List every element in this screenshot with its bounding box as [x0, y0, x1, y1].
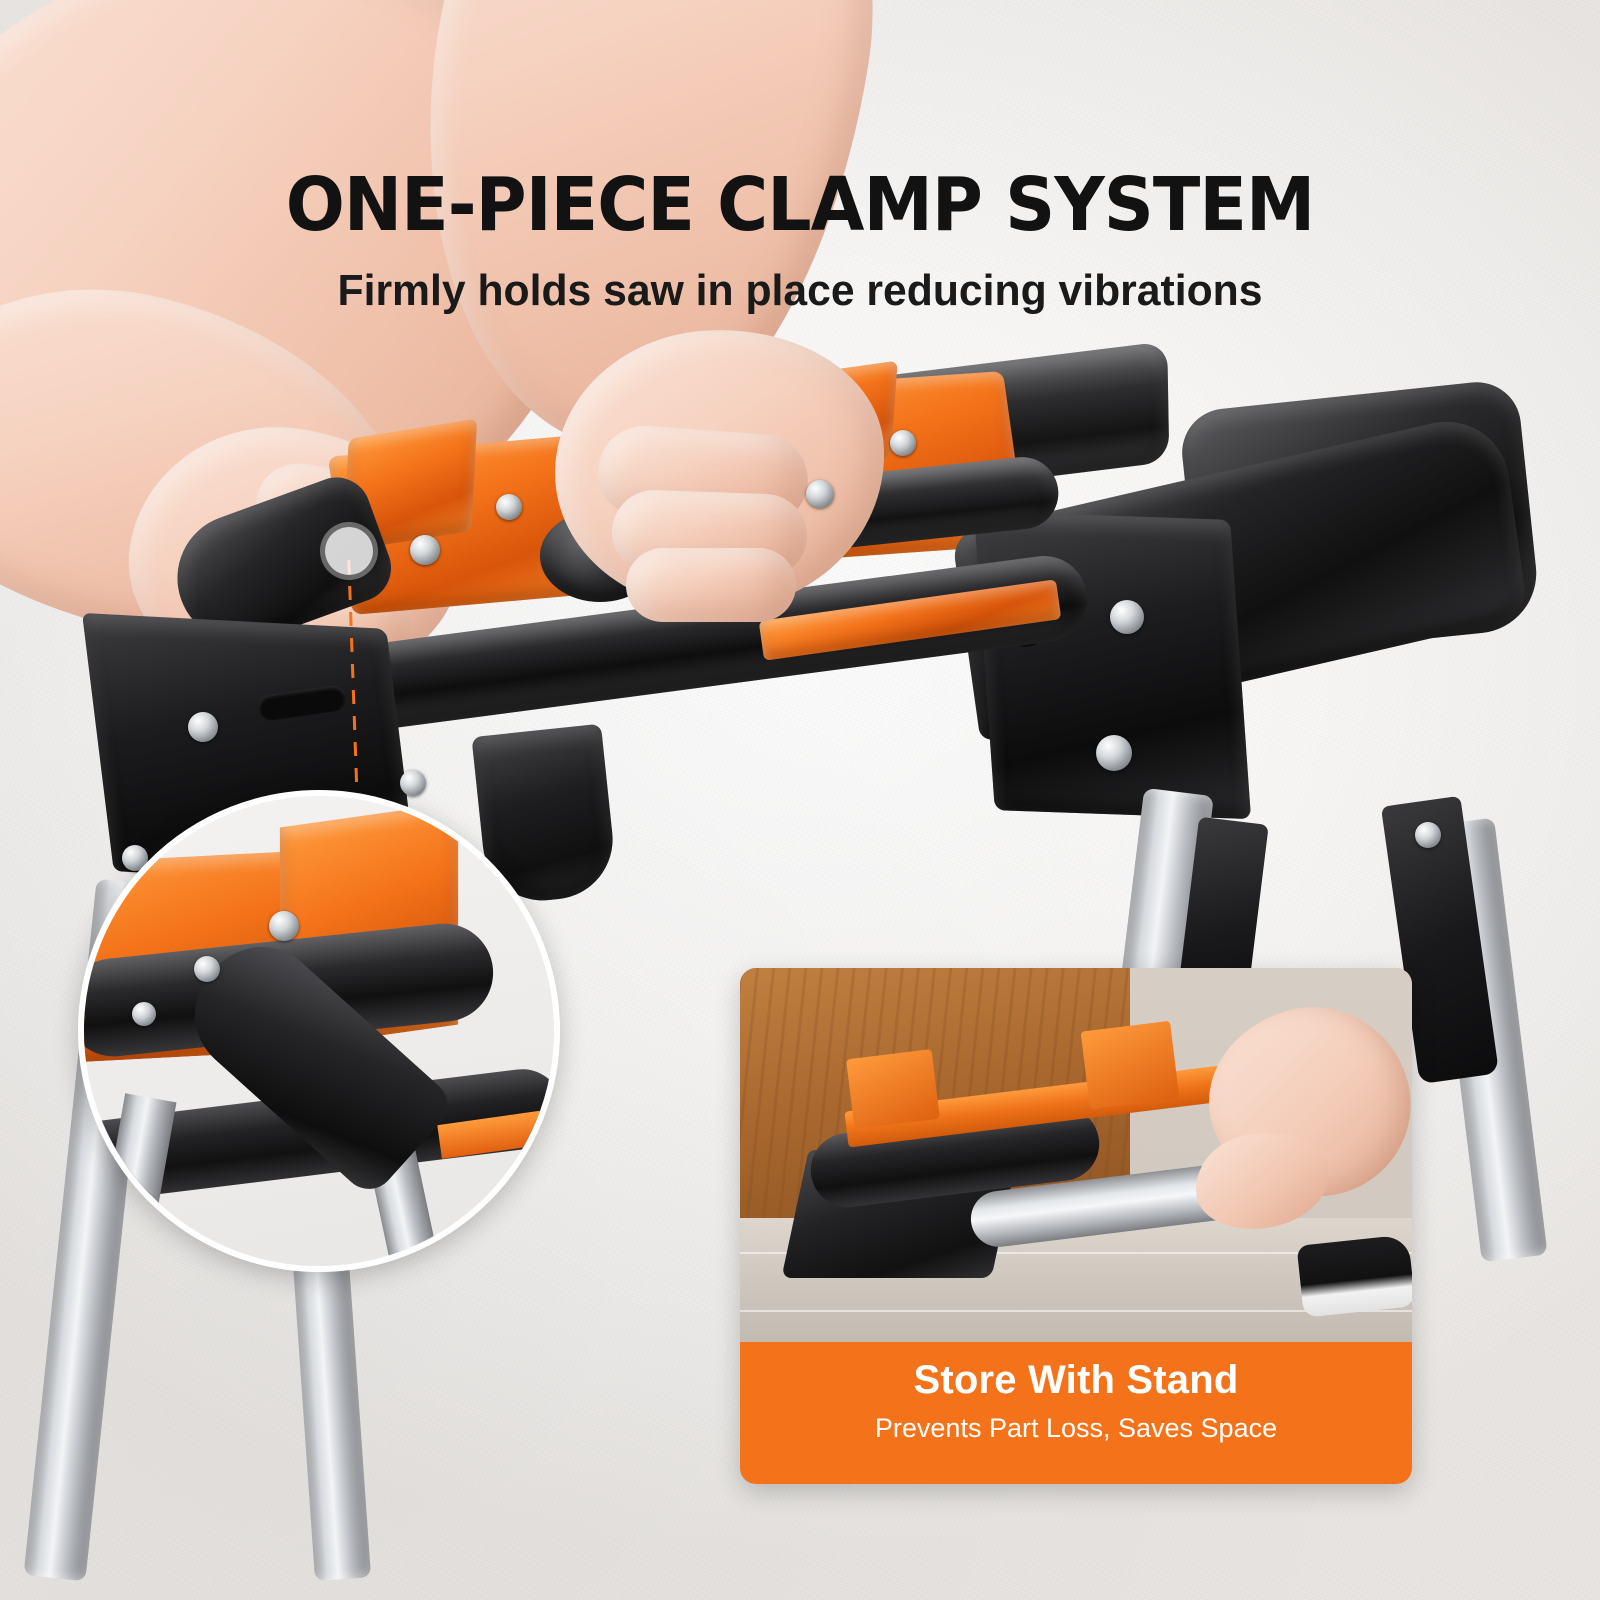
right-mounting-bracket	[974, 511, 1251, 819]
clamp-detail-marker	[325, 527, 373, 575]
store-with-stand-photo	[740, 968, 1412, 1342]
right-hand-finger-3	[626, 548, 796, 622]
closeup-bolt-1	[269, 911, 299, 941]
bolt-4	[890, 430, 916, 456]
bolt-7	[188, 712, 218, 742]
headline-block: ONE-PIECE CLAMP SYSTEM Firmly holds saw …	[0, 168, 1600, 314]
closeup-bolt-3	[132, 1002, 156, 1026]
inset-shoe	[1297, 1234, 1412, 1317]
bolt-6	[1096, 735, 1132, 771]
inset-title: Store With Stand	[740, 1358, 1412, 1403]
store-with-stand-card: Store With Stand Prevents Part Loss, Sav…	[740, 968, 1412, 1484]
clamp-closeup-magnifier	[78, 790, 560, 1272]
folded-stand-clamp-right	[1081, 1021, 1180, 1109]
bolt-3	[806, 480, 834, 508]
bolt-2	[496, 494, 522, 520]
folded-stand-clamp-left	[846, 1049, 940, 1129]
closeup-bolt-2	[194, 956, 220, 982]
product-photo-background: ONE-PIECE CLAMP SYSTEM Firmly holds saw …	[0, 0, 1600, 1600]
inset-subtitle: Prevents Part Loss, Saves Space	[740, 1413, 1412, 1444]
page-title: ONE-PIECE CLAMP SYSTEM	[48, 168, 1552, 242]
bolt-9	[400, 770, 426, 796]
page-subtitle: Firmly holds saw in place reducing vibra…	[24, 268, 1576, 314]
bolt-5	[1110, 600, 1144, 634]
bolt-1	[410, 535, 440, 565]
inset-caption-bar: Store With Stand Prevents Part Loss, Sav…	[740, 1342, 1412, 1484]
bolt-10	[1415, 822, 1441, 848]
